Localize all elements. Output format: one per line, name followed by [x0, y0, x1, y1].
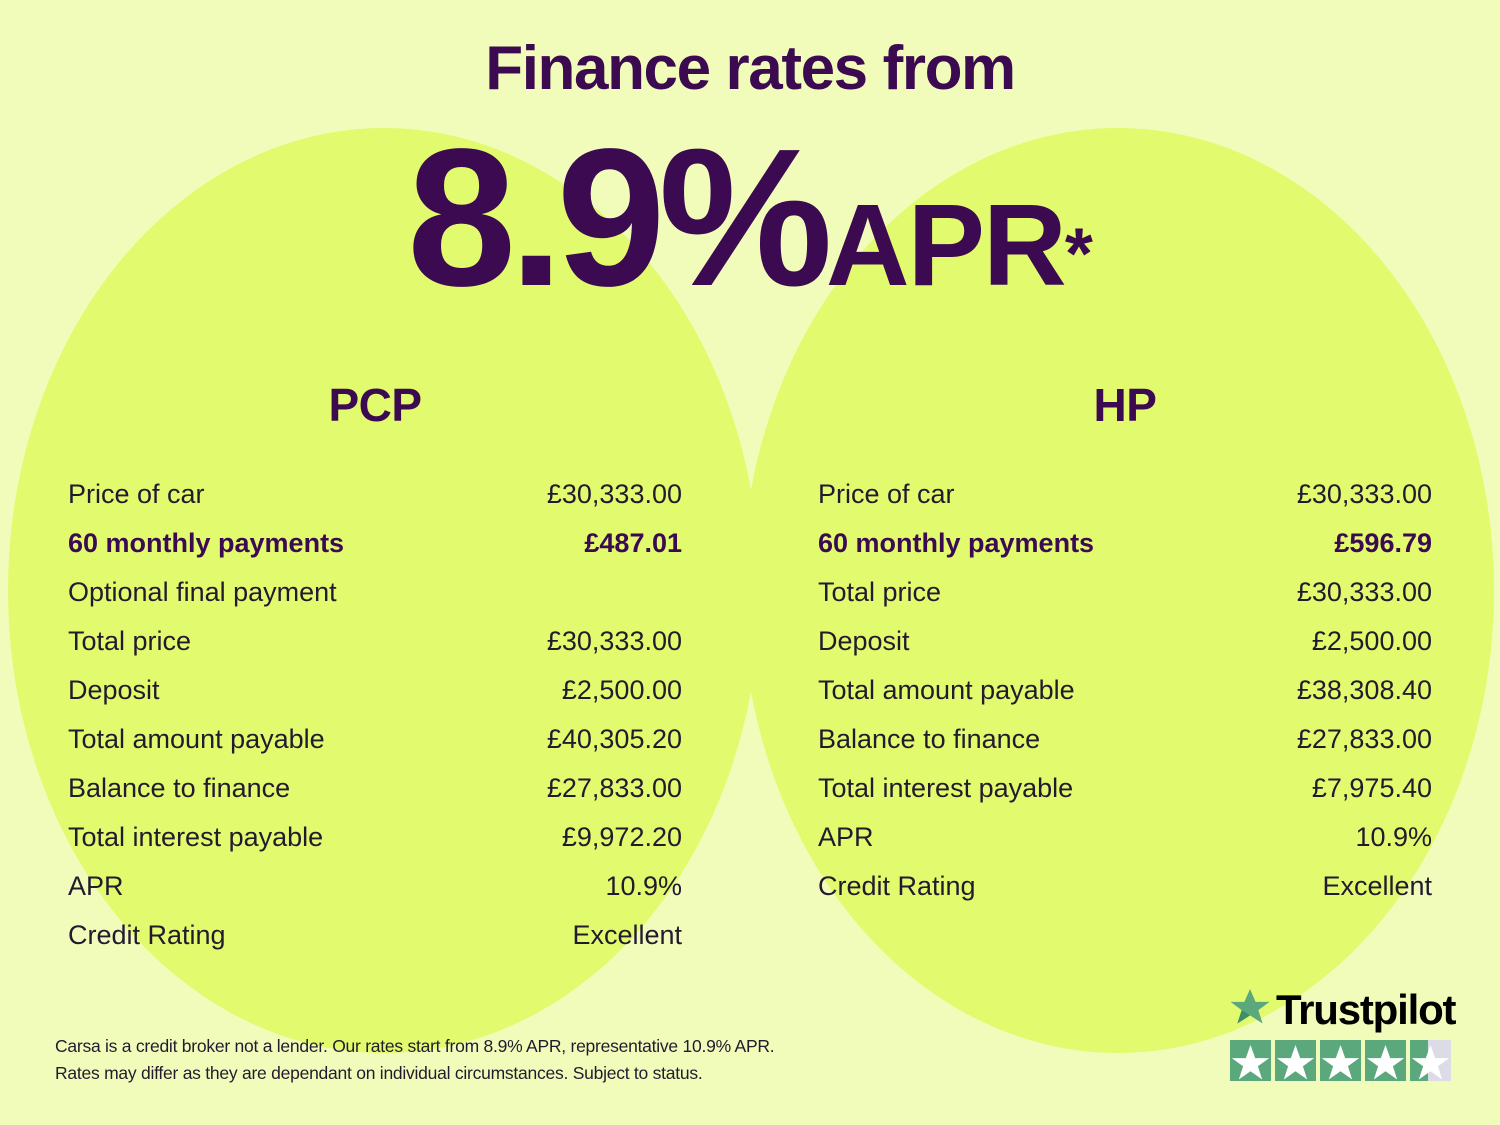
- row-value: £596.79: [1334, 530, 1432, 557]
- row-value: £30,333.00: [1297, 481, 1432, 508]
- trustpilot-star-rating: [1230, 1040, 1452, 1081]
- headline-rate: 8.9%APR*: [0, 120, 1500, 316]
- trustpilot-star-4: [1365, 1040, 1406, 1081]
- row-label: Total amount payable: [818, 677, 1075, 704]
- plan-title: HP: [818, 378, 1432, 432]
- page-title: Finance rates from: [0, 38, 1500, 100]
- row-value: £7,975.40: [1312, 775, 1432, 802]
- row-label: Total interest payable: [68, 824, 323, 851]
- table-row: 60 monthly payments£596.79: [818, 519, 1432, 568]
- row-label: Total price: [68, 628, 191, 655]
- row-label: Total price: [818, 579, 941, 606]
- trustpilot-star-icon: [1230, 988, 1270, 1031]
- table-row: Price of car£30,333.00: [818, 470, 1432, 519]
- row-value: £9,972.20: [562, 824, 682, 851]
- table-row: Balance to finance£27,833.00: [68, 764, 682, 813]
- row-value: Excellent: [572, 922, 682, 949]
- plan-title: PCP: [68, 378, 682, 432]
- row-value: £30,333.00: [1297, 579, 1432, 606]
- trustpilot-star-2: [1275, 1040, 1316, 1081]
- trustpilot-star-1: [1230, 1040, 1271, 1081]
- trustpilot-star-5: [1410, 1040, 1451, 1081]
- row-value: Excellent: [1322, 873, 1432, 900]
- table-row: Optional final payment: [68, 568, 682, 617]
- trustpilot-widget[interactable]: Trustpilot: [1230, 988, 1452, 1081]
- rate-footnote-marker: *: [1065, 215, 1093, 295]
- row-label: Credit Rating: [818, 873, 976, 900]
- table-row: Deposit£2,500.00: [818, 617, 1432, 666]
- table-row: Balance to finance£27,833.00: [818, 715, 1432, 764]
- row-label: Price of car: [68, 481, 205, 508]
- table-row: Total interest payable£7,975.40: [818, 764, 1432, 813]
- row-label: Deposit: [68, 677, 160, 704]
- row-label: 60 monthly payments: [68, 530, 344, 557]
- row-label: Balance to finance: [68, 775, 290, 802]
- table-row: Total price£30,333.00: [68, 617, 682, 666]
- row-label: Balance to finance: [818, 726, 1040, 753]
- row-label: Deposit: [818, 628, 910, 655]
- table-row: Price of car£30,333.00: [68, 470, 682, 519]
- row-label: 60 monthly payments: [818, 530, 1094, 557]
- row-value: £27,833.00: [1297, 726, 1432, 753]
- plan-rows: Price of car£30,333.0060 monthly payment…: [818, 470, 1432, 911]
- table-row: Total amount payable£40,305.20: [68, 715, 682, 764]
- row-label: APR: [818, 824, 874, 851]
- row-value: £30,333.00: [547, 481, 682, 508]
- row-value: £2,500.00: [562, 677, 682, 704]
- row-value: £40,305.20: [547, 726, 682, 753]
- trustpilot-name: Trustpilot: [1276, 989, 1455, 1031]
- row-label: APR: [68, 873, 124, 900]
- trustpilot-wordmark: Trustpilot: [1230, 988, 1452, 1031]
- table-row: 60 monthly payments£487.01: [68, 519, 682, 568]
- table-row: Credit RatingExcellent: [818, 862, 1432, 911]
- row-label: Price of car: [818, 481, 955, 508]
- trustpilot-star-3: [1320, 1040, 1361, 1081]
- row-value: £27,833.00: [547, 775, 682, 802]
- row-value: £38,308.40: [1297, 677, 1432, 704]
- plan-column-hp: HPPrice of car£30,333.0060 monthly payme…: [750, 378, 1500, 960]
- plan-rows: Price of car£30,333.0060 monthly payment…: [68, 470, 682, 960]
- finance-plans: PCPPrice of car£30,333.0060 monthly paym…: [0, 378, 1500, 960]
- row-value: £30,333.00: [547, 628, 682, 655]
- table-row: Total amount payable£38,308.40: [818, 666, 1432, 715]
- row-label: Optional final payment: [68, 579, 337, 606]
- table-row: APR10.9%: [818, 813, 1432, 862]
- row-label: Total interest payable: [818, 775, 1073, 802]
- table-row: APR10.9%: [68, 862, 682, 911]
- table-row: Credit RatingExcellent: [68, 911, 682, 960]
- table-row: Total interest payable£9,972.20: [68, 813, 682, 862]
- row-value: £487.01: [584, 530, 682, 557]
- rate-value: 8.9%: [407, 108, 826, 327]
- disclaimer: Carsa is a credit broker not a lender. O…: [55, 1033, 774, 1087]
- row-label: Total amount payable: [68, 726, 325, 753]
- finance-rates-graphic: Finance rates from 8.9%APR* PCPPrice of …: [0, 0, 1500, 1125]
- disclaimer-line-1: Carsa is a credit broker not a lender. O…: [55, 1033, 774, 1060]
- row-value: 10.9%: [1355, 824, 1432, 851]
- row-label: Credit Rating: [68, 922, 226, 949]
- plan-column-pcp: PCPPrice of car£30,333.0060 monthly paym…: [0, 378, 750, 960]
- row-value: 10.9%: [605, 873, 682, 900]
- table-row: Total price£30,333.00: [818, 568, 1432, 617]
- disclaimer-line-2: Rates may differ as they are dependant o…: [55, 1060, 774, 1087]
- row-value: £2,500.00: [1312, 628, 1432, 655]
- table-row: Deposit£2,500.00: [68, 666, 682, 715]
- rate-unit: APR: [826, 180, 1065, 310]
